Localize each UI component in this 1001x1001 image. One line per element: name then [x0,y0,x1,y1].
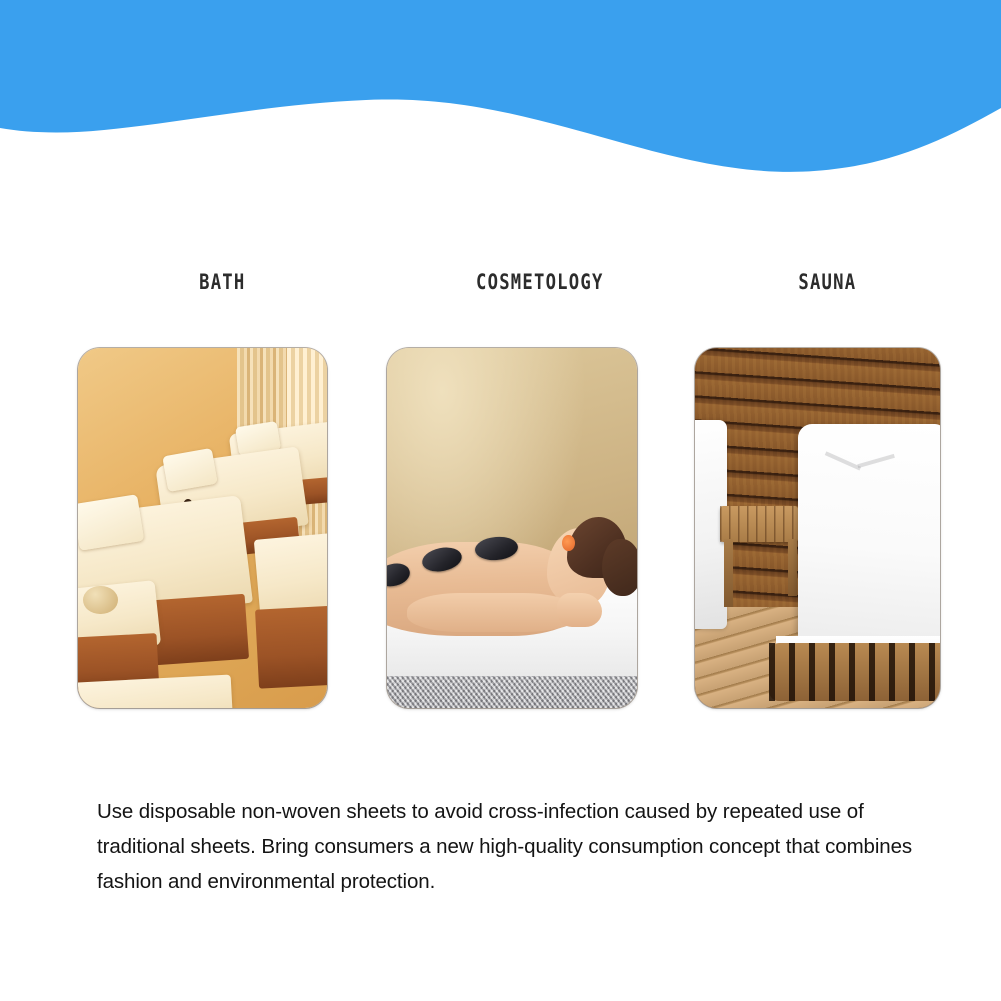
category-label-bath: BATH [199,270,245,294]
category-labels-row: BATH COSMETOLOGY SAUNA [60,262,960,302]
category-label-cosmetology: COSMETOLOGY [476,270,604,294]
scene-sauna [695,348,940,708]
scene-cosmetology [387,348,637,708]
sauna-sheet-fold-right [857,454,895,468]
cosmetology-arm [407,593,582,633]
sauna-lounger-frame [769,643,941,701]
category-label-cell-bath: BATH [60,262,385,302]
category-photos-row [78,348,940,708]
bath-base-right [255,605,327,690]
blue-wave-banner [0,0,1001,190]
cosmetology-flower [562,535,575,551]
category-label-cell-cosmetology: COSMETOLOGY [385,262,695,302]
hot-stone-massage-photo [387,348,637,708]
cosmetology-hair-back [602,539,637,597]
sauna-lounger-slats [769,643,941,701]
product-infographic-page: BATH COSMETOLOGY SAUNA [0,0,1001,1001]
category-label-cell-sauna: SAUNA [695,262,960,302]
sauna-lounger-sheet [798,424,940,647]
sauna-table-leg-right [788,539,797,597]
product-description-text: Use disposable non-woven sheets to avoid… [97,794,917,899]
scene-bath [78,348,327,708]
sauna-lounger-photo [695,348,940,708]
bath-stone-near [83,586,118,615]
cosmetology-hand [557,593,602,627]
category-label-sauna: SAUNA [799,270,857,294]
sauna-sheet-fold-left [825,452,861,471]
sauna-side-table [720,506,798,542]
cosmetology-nonwoven-fabric-strip [387,676,637,708]
sauna-side-table-slats [720,506,798,542]
wave-shape [0,0,1001,190]
sauna-table-leg-left [724,539,733,607]
spa-massage-beds-photo [78,348,327,708]
